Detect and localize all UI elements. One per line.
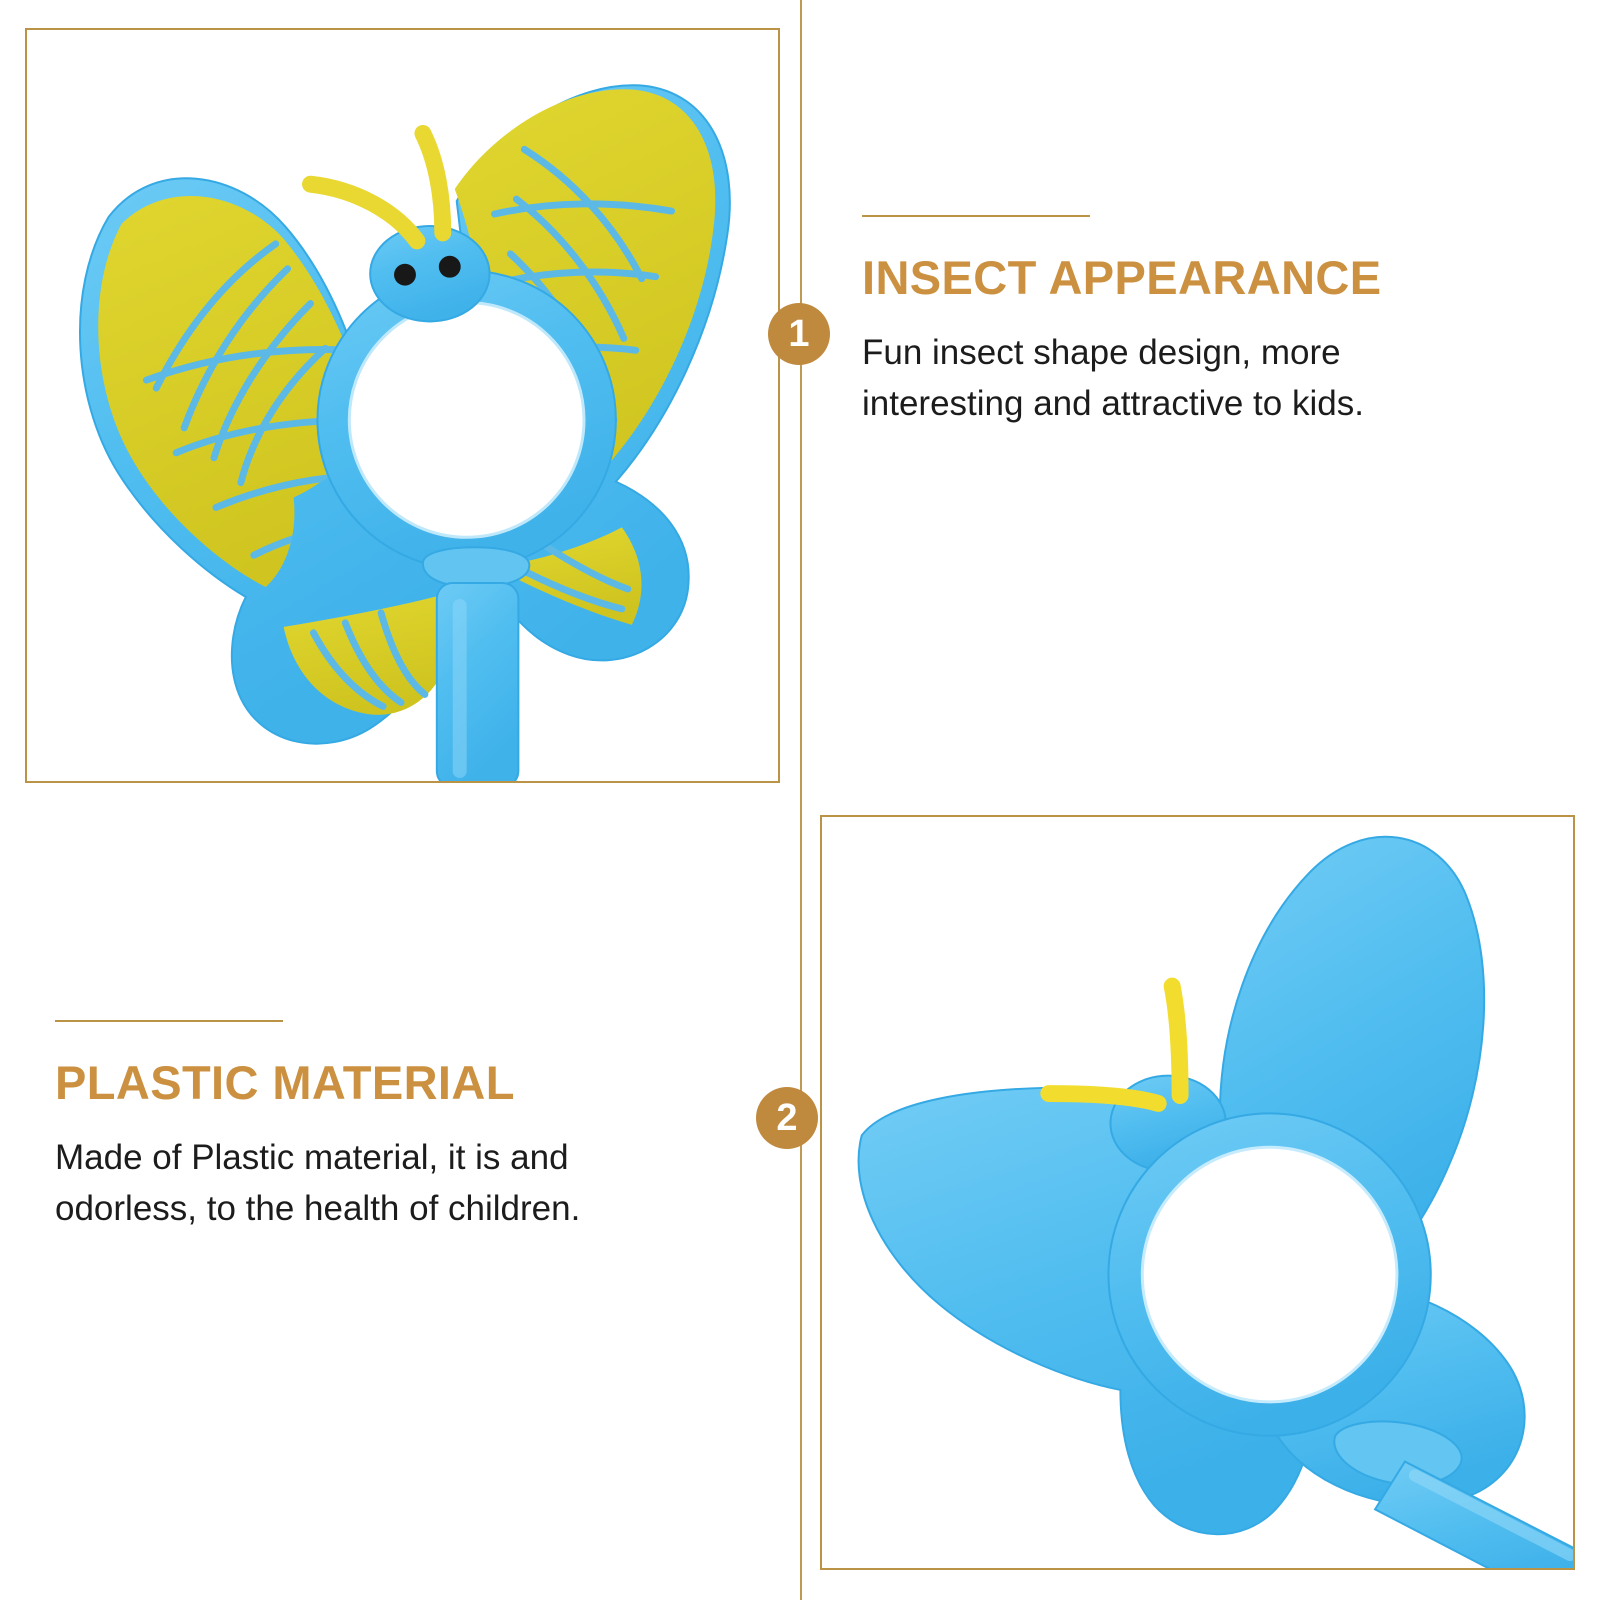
butterfly-magnifier-back-illustration bbox=[822, 817, 1573, 1568]
product-image-panel-2 bbox=[820, 815, 1575, 1570]
step-number-badge-2: 2 bbox=[756, 1087, 818, 1149]
heading-rule-1 bbox=[862, 215, 1090, 217]
step-number-badge-1: 1 bbox=[768, 303, 830, 365]
feature-body-2: Made of Plastic material, it is and odor… bbox=[55, 1133, 615, 1235]
butterfly-magnifier-front-illustration bbox=[27, 30, 778, 781]
feature-block-1: INSECT APPEARANCE Fun insect shape desig… bbox=[862, 215, 1482, 430]
feature-heading-2: PLASTIC MATERIAL bbox=[55, 1058, 675, 1107]
feature-body-1: Fun insect shape design, more interestin… bbox=[862, 328, 1422, 430]
feature-heading-1: INSECT APPEARANCE bbox=[862, 253, 1482, 302]
heading-rule-2 bbox=[55, 1020, 283, 1022]
infographic-page: INSECT APPEARANCE Fun insect shape desig… bbox=[0, 0, 1600, 1600]
feature-block-2: PLASTIC MATERIAL Made of Plastic materia… bbox=[55, 1020, 675, 1235]
vertical-divider-line bbox=[800, 0, 802, 1600]
product-image-panel-1 bbox=[25, 28, 780, 783]
